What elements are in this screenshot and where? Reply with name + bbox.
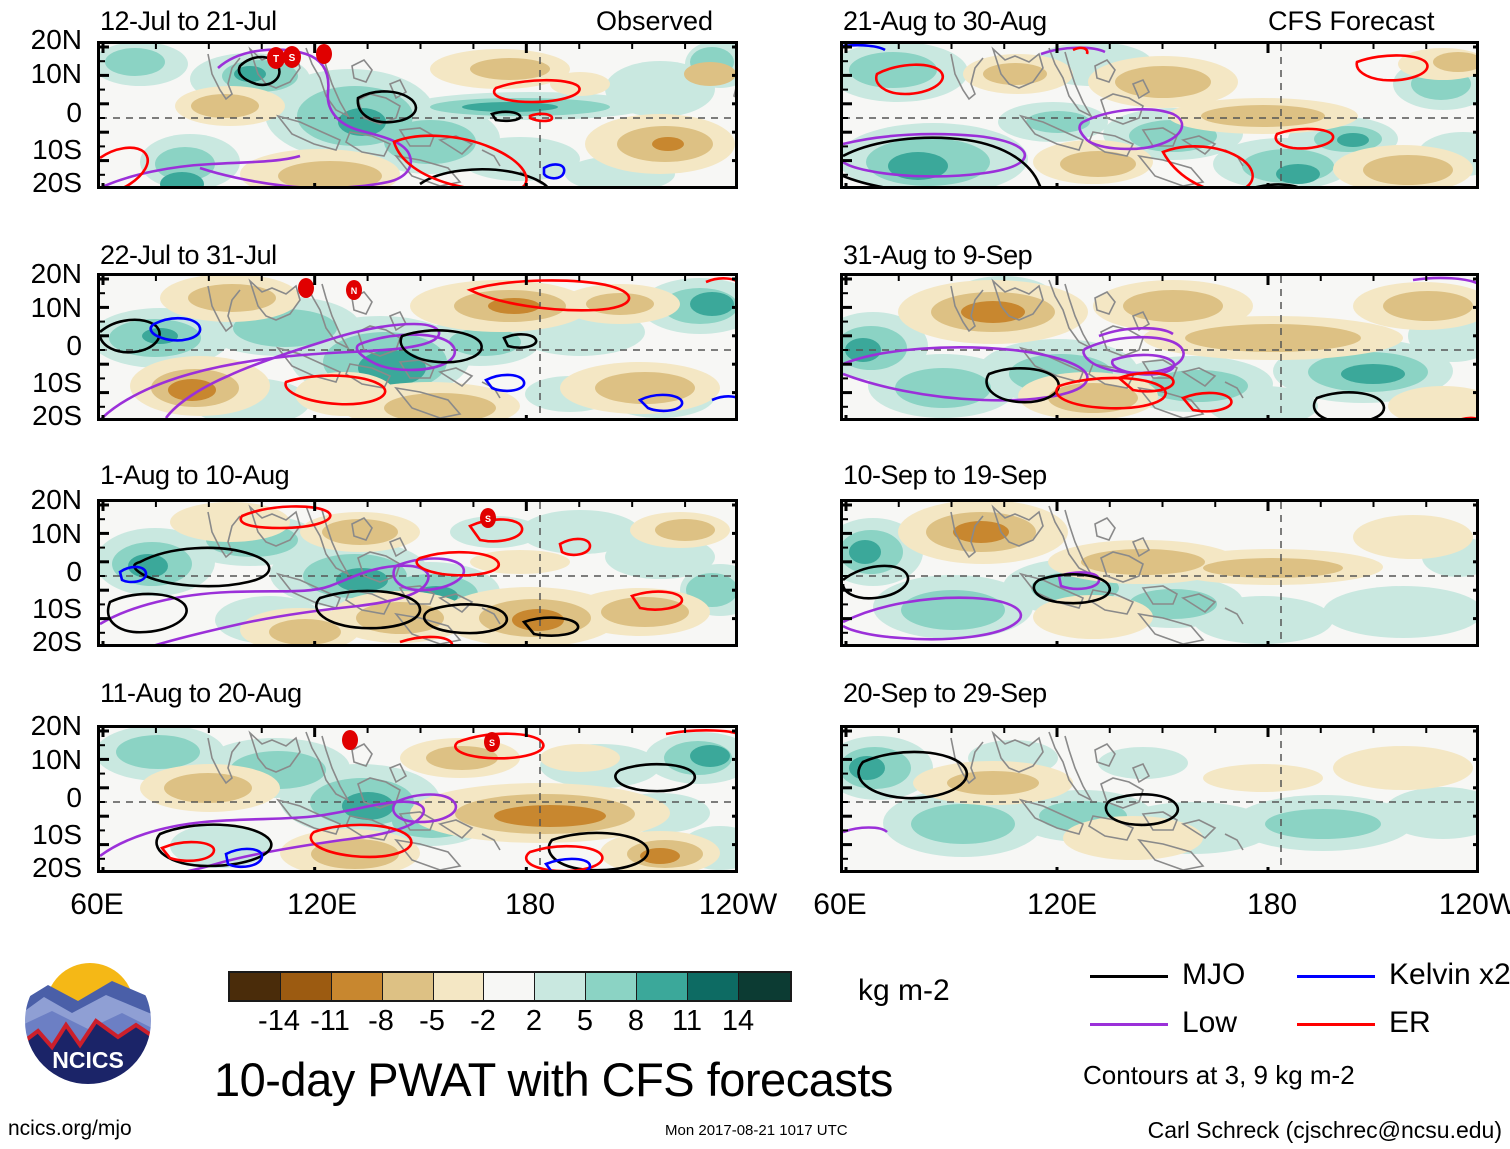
colorbar-units: kg m-2 — [858, 974, 950, 1008]
map-plot-p7: S — [100, 728, 738, 873]
y-tick-label: 10N — [0, 294, 82, 322]
map-panel-p3[interactable]: N — [97, 273, 738, 421]
logo-text: NCICS — [52, 1047, 124, 1073]
contour-note: Contours at 3, 9 kg m-2 — [1083, 1060, 1355, 1091]
panel-title-p4: 31-Aug to 9-Sep — [843, 240, 1032, 271]
y-tick-label: 10N — [0, 60, 82, 88]
legend-label-low: Low — [1182, 1006, 1237, 1040]
colorbar[interactable] — [228, 971, 792, 1002]
svg-text:S: S — [485, 514, 491, 524]
x-tick-label: 180 — [1232, 888, 1312, 922]
y-tick-label: 10S — [0, 369, 82, 397]
y-tick-label: 0 — [0, 99, 82, 127]
y-tick-label: 20S — [0, 402, 82, 430]
x-tick-label: 120E — [272, 888, 372, 922]
y-tick-label: 0 — [0, 558, 82, 586]
y-tick-label: 20S — [0, 854, 82, 882]
map-panel-p6[interactable] — [840, 499, 1479, 647]
panel-title-p6: 10-Sep to 19-Sep — [843, 460, 1047, 491]
y-tick-label: 20S — [0, 628, 82, 656]
x-tick-label: 120E — [1012, 888, 1112, 922]
colorbar-segment-7 — [586, 973, 637, 1000]
colorbar-segment-2 — [332, 973, 383, 1000]
panel-title-p1: 12-Jul to 21-Jul — [100, 6, 277, 37]
ncics-logo: NCICS — [22, 955, 154, 1087]
legend-swatch-kelvin — [1297, 975, 1375, 978]
colorbar-tick-label: -5 — [419, 1005, 445, 1038]
y-tick-label: 20S — [0, 169, 82, 197]
legend-label-er: ER — [1389, 1006, 1431, 1040]
legend-label-mjo: MJO — [1182, 958, 1245, 992]
map-plot-p1: T S — [100, 44, 738, 189]
colorbar-tick-label: 8 — [628, 1005, 644, 1038]
legend-swatch-mjo — [1090, 975, 1168, 978]
y-tick-label: 10S — [0, 821, 82, 849]
colorbar-segment-8 — [637, 973, 688, 1000]
map-panel-p2[interactable] — [840, 41, 1479, 189]
colorbar-tick-label: -11 — [310, 1005, 350, 1038]
colorbar-tick-label: 11 — [672, 1005, 702, 1038]
footer-url[interactable]: ncics.org/mjo — [8, 1117, 132, 1141]
colorbar-tick-label: 5 — [577, 1005, 593, 1038]
y-tick-label: 0 — [0, 332, 82, 360]
svg-text:S: S — [289, 53, 296, 64]
legend-label-kelvin: Kelvin x2 — [1389, 958, 1510, 992]
y-tick-label: 20N — [0, 712, 82, 740]
map-panel-p5[interactable]: S — [97, 499, 738, 647]
y-tick-label: 20N — [0, 486, 82, 514]
panel-title-p8: 20-Sep to 29-Sep — [843, 678, 1047, 709]
colorbar-tick-label: 2 — [526, 1005, 542, 1038]
colorbar-segment-9 — [688, 973, 739, 1000]
panel-title-p5: 1-Aug to 10-Aug — [100, 460, 289, 491]
legend-swatch-low — [1090, 1023, 1168, 1026]
map-panel-p1[interactable]: T S — [97, 41, 738, 189]
colorbar-segment-6 — [535, 973, 586, 1000]
colorbar-segment-0 — [230, 973, 281, 1000]
y-tick-label: 10S — [0, 595, 82, 623]
colorbar-segment-3 — [383, 973, 434, 1000]
svg-text:T: T — [273, 54, 279, 65]
map-plot-p8 — [843, 728, 1479, 873]
column-header-forecast: CFS Forecast — [1268, 6, 1435, 37]
storm-marker: S — [480, 508, 496, 528]
map-plot-p3: N — [100, 276, 738, 421]
y-tick-label: 20N — [0, 26, 82, 54]
map-plot-p4 — [843, 276, 1479, 421]
colorbar-segment-10 — [739, 973, 790, 1000]
svg-text:N: N — [351, 286, 358, 296]
colorbar-segment-1 — [281, 973, 332, 1000]
panel-title-p2: 21-Aug to 30-Aug — [843, 6, 1047, 37]
svg-text:S: S — [489, 738, 495, 748]
y-tick-label: 20N — [0, 260, 82, 288]
panel-title-p3: 22-Jul to 31-Jul — [100, 240, 277, 271]
x-tick-label: 60E — [57, 888, 137, 922]
y-tick-label: 10N — [0, 520, 82, 548]
map-panel-p8[interactable] — [840, 725, 1479, 873]
colorbar-segment-4 — [434, 973, 485, 1000]
y-tick-label: 0 — [0, 784, 82, 812]
x-tick-label: 60E — [800, 888, 880, 922]
map-plot-p6 — [843, 502, 1479, 647]
x-tick-label: 120W — [1428, 888, 1510, 922]
x-tick-label: 120W — [688, 888, 788, 922]
footer-timestamp: Mon 2017-08-21 1017 UTC — [665, 1122, 848, 1139]
footer-author: Carl Schreck (cjschrec@ncsu.edu) — [1148, 1117, 1502, 1144]
panel-title-p7: 11-Aug to 20-Aug — [100, 678, 302, 709]
map-plot-p2 — [843, 44, 1479, 189]
column-header-observed: Observed — [596, 6, 713, 37]
x-tick-label: 180 — [490, 888, 570, 922]
legend-swatch-er — [1297, 1023, 1375, 1026]
colorbar-segment-5 — [484, 973, 535, 1000]
map-plot-p5: S — [100, 502, 738, 647]
colorbar-tick-label: -14 — [258, 1005, 300, 1038]
y-tick-label: 10S — [0, 136, 82, 164]
colorbar-tick-label: 14 — [722, 1005, 754, 1038]
map-panel-p7[interactable]: S — [97, 725, 738, 873]
map-panel-p4[interactable] — [840, 273, 1479, 421]
y-tick-label: 10N — [0, 746, 82, 774]
page-title: 10-day PWAT with CFS forecasts — [214, 1052, 893, 1107]
colorbar-tick-label: -2 — [470, 1005, 496, 1038]
colorbar-tick-label: -8 — [368, 1005, 394, 1038]
